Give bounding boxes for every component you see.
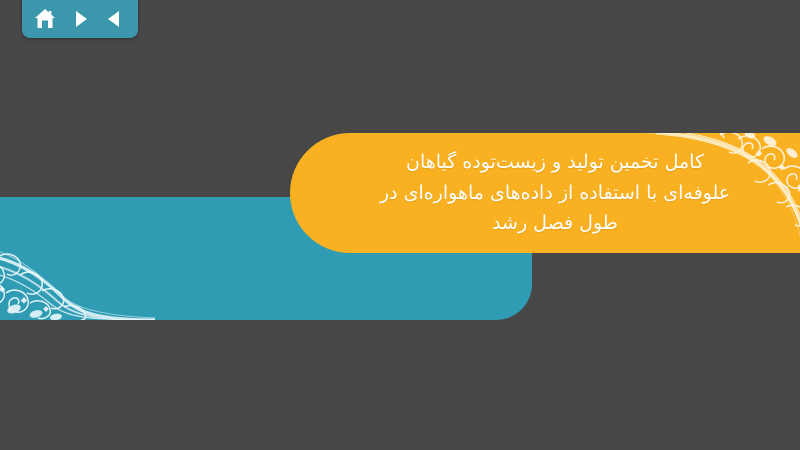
slide-title: کامل تخمین تولید و زیست‌توده گیاهان علوف… bbox=[290, 133, 800, 253]
arabesque-ornament-teal bbox=[0, 197, 155, 320]
slide-navigation-bar: قبلی بعدی خانه bbox=[22, 0, 138, 38]
title-line-2: علوفه‌ای با استفاده از داده‌های ماهواره‌… bbox=[380, 178, 730, 209]
triangle-right-icon bbox=[70, 9, 90, 29]
home-button[interactable]: خانه bbox=[32, 6, 58, 32]
previous-slide-button[interactable]: قبلی bbox=[102, 6, 128, 32]
title-panel: کامل تخمین تولید و زیست‌توده گیاهان علوف… bbox=[290, 133, 800, 253]
next-slide-button[interactable]: بعدی bbox=[67, 6, 93, 32]
presentation-slide: قبلی بعدی خانه bbox=[0, 0, 800, 450]
title-line-1: کامل تخمین تولید و زیست‌توده گیاهان bbox=[406, 147, 704, 178]
triangle-left-icon bbox=[105, 9, 125, 29]
title-line-3: طول فصل رشد bbox=[492, 208, 618, 239]
home-icon bbox=[34, 8, 56, 30]
